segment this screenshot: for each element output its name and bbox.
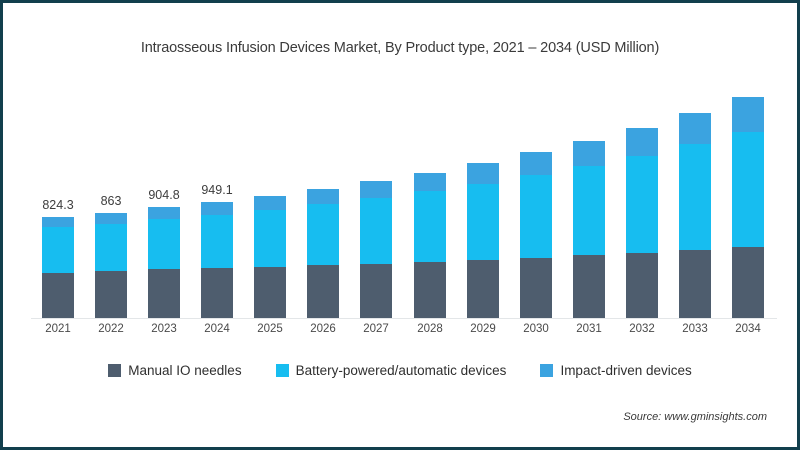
plot-area: 824.3863904.8949.1 <box>31 81 775 318</box>
x-tick-2027: 2027 <box>354 323 398 335</box>
chart-canvas: Intraosseous Infusion Devices Market, By… <box>3 3 797 447</box>
bar-segment-manual-2034 <box>732 247 764 318</box>
chart-legend: Manual IO needlesBattery-powered/automat… <box>3 363 797 378</box>
bar-2027[interactable] <box>360 181 392 318</box>
x-tick-2021: 2021 <box>36 323 80 335</box>
bar-segment-impact-2031 <box>573 141 605 166</box>
bar-segment-manual-2031 <box>573 255 605 318</box>
x-axis-ticks: 2021202220232024202520262027202820292030… <box>31 323 775 343</box>
bar-segment-manual-2023 <box>148 269 180 318</box>
bar-segment-battery-2033 <box>679 144 711 250</box>
bar-segment-manual-2026 <box>307 265 339 318</box>
bar-segment-manual-2029 <box>467 260 499 318</box>
bar-2033[interactable] <box>679 113 711 318</box>
bar-2029[interactable] <box>467 163 499 318</box>
bar-2030[interactable] <box>520 152 552 318</box>
x-tick-2025: 2025 <box>248 323 292 335</box>
bar-segment-battery-2024 <box>201 215 233 268</box>
bar-segment-manual-2033 <box>679 250 711 318</box>
bar-segment-manual-2032 <box>626 253 658 318</box>
bar-segment-battery-2030 <box>520 175 552 258</box>
bar-segment-impact-2025 <box>254 196 286 210</box>
bar-segment-battery-2025 <box>254 210 286 267</box>
bar-segment-battery-2023 <box>148 219 180 269</box>
bar-segment-battery-2034 <box>732 132 764 247</box>
bar-segment-battery-2032 <box>626 156 658 253</box>
bar-segment-impact-2021 <box>42 217 74 227</box>
bar-2021[interactable]: 824.3 <box>42 217 74 318</box>
bar-segment-battery-2028 <box>414 191 446 262</box>
bar-2022[interactable]: 863 <box>95 213 127 318</box>
bar-segment-impact-2032 <box>626 128 658 156</box>
bar-value-label-2021: 824.3 <box>42 198 73 212</box>
bar-value-label-2024: 949.1 <box>201 183 232 197</box>
x-tick-2033: 2033 <box>673 323 717 335</box>
bar-segment-impact-2030 <box>520 152 552 175</box>
bar-segment-impact-2034 <box>732 97 764 131</box>
bar-segment-battery-2029 <box>467 184 499 260</box>
bar-segment-impact-2033 <box>679 113 711 144</box>
bar-segment-manual-2028 <box>414 262 446 318</box>
x-axis-line <box>31 318 777 319</box>
x-tick-2023: 2023 <box>142 323 186 335</box>
bar-segment-impact-2023 <box>148 207 180 219</box>
bar-2028[interactable] <box>414 173 446 318</box>
bar-segment-manual-2030 <box>520 258 552 318</box>
x-tick-2032: 2032 <box>620 323 664 335</box>
bar-2031[interactable] <box>573 141 605 318</box>
legend-label-manual: Manual IO needles <box>128 363 241 378</box>
legend-item-manual[interactable]: Manual IO needles <box>108 363 241 378</box>
legend-label-battery: Battery-powered/automatic devices <box>296 363 507 378</box>
bar-segment-battery-2031 <box>573 166 605 256</box>
legend-swatch-battery <box>276 364 289 377</box>
legend-item-battery[interactable]: Battery-powered/automatic devices <box>276 363 507 378</box>
x-tick-2030: 2030 <box>514 323 558 335</box>
x-tick-2031: 2031 <box>567 323 611 335</box>
bar-2032[interactable] <box>626 128 658 318</box>
bar-segment-manual-2022 <box>95 271 127 318</box>
bar-2026[interactable] <box>307 189 339 318</box>
bar-segment-battery-2022 <box>95 224 127 271</box>
x-tick-2034: 2034 <box>726 323 770 335</box>
bar-segment-manual-2024 <box>201 268 233 318</box>
bar-segment-battery-2021 <box>42 227 74 272</box>
bar-segment-battery-2027 <box>360 198 392 264</box>
bar-value-label-2023: 904.8 <box>148 188 179 202</box>
chart-frame: Intraosseous Infusion Devices Market, By… <box>0 0 800 450</box>
bar-2034[interactable] <box>732 97 764 318</box>
bar-2024[interactable]: 949.1 <box>201 202 233 318</box>
legend-label-impact: Impact-driven devices <box>560 363 691 378</box>
bar-segment-manual-2027 <box>360 264 392 318</box>
source-credit: Source: www.gminsights.com <box>623 411 767 423</box>
bar-segment-manual-2025 <box>254 267 286 318</box>
x-tick-2022: 2022 <box>89 323 133 335</box>
bar-segment-impact-2024 <box>201 202 233 215</box>
x-tick-2026: 2026 <box>301 323 345 335</box>
legend-swatch-manual <box>108 364 121 377</box>
legend-swatch-impact <box>540 364 553 377</box>
legend-item-impact[interactable]: Impact-driven devices <box>540 363 691 378</box>
bar-segment-manual-2021 <box>42 273 74 318</box>
bar-segment-impact-2026 <box>307 189 339 204</box>
bar-segment-impact-2029 <box>467 163 499 184</box>
bar-2023[interactable]: 904.8 <box>148 207 180 318</box>
bar-segment-impact-2028 <box>414 173 446 192</box>
bar-segment-impact-2022 <box>95 213 127 224</box>
x-tick-2028: 2028 <box>408 323 452 335</box>
bar-2025[interactable] <box>254 196 286 318</box>
bar-value-label-2022: 863 <box>101 194 122 208</box>
bar-segment-battery-2026 <box>307 204 339 265</box>
x-tick-2029: 2029 <box>461 323 505 335</box>
bar-segment-impact-2027 <box>360 181 392 198</box>
chart-title: Intraosseous Infusion Devices Market, By… <box>3 40 797 56</box>
x-tick-2024: 2024 <box>195 323 239 335</box>
